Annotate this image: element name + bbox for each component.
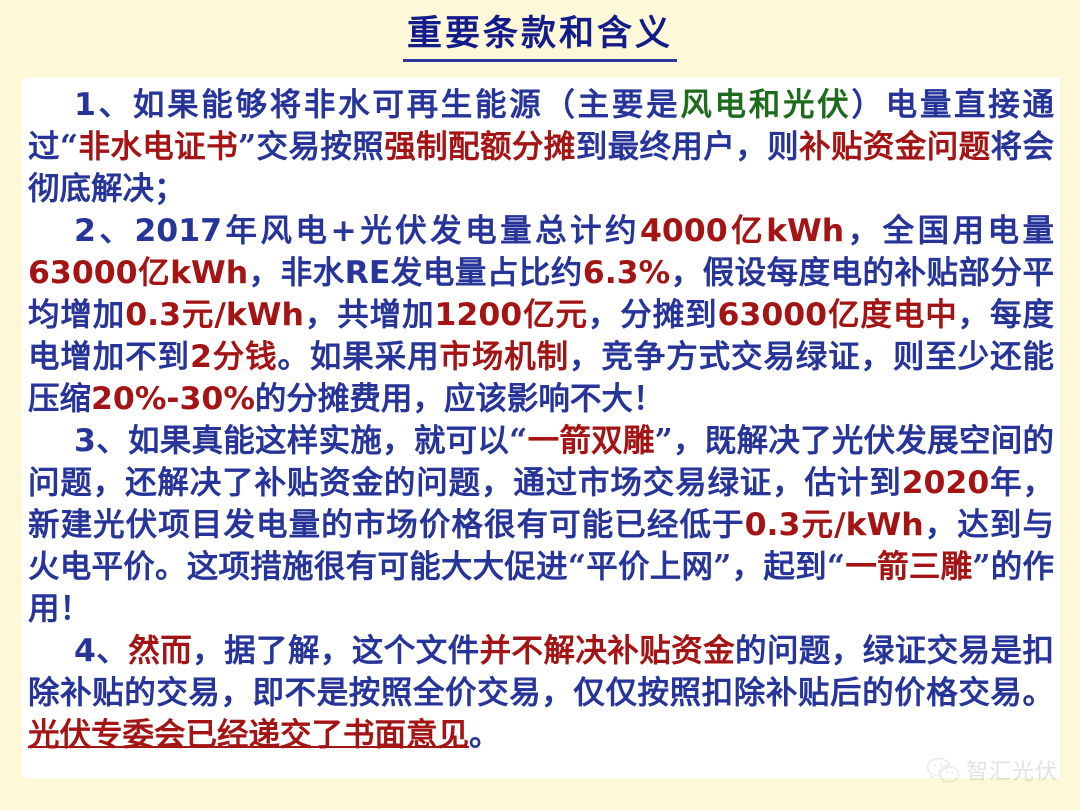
text-run: 2017 bbox=[134, 213, 222, 249]
text-run: 亿 bbox=[138, 254, 170, 291]
paragraph-2: 2、2017年风电+光伏发电量总计约4000亿kWh，全国用电量63000亿kW… bbox=[28, 210, 1054, 420]
text-run: ，据了解，这个文件 bbox=[192, 632, 479, 669]
text-run: 20%-30% bbox=[91, 381, 255, 417]
text-run: 元 bbox=[181, 296, 214, 333]
text-run: 补贴资金问题 bbox=[799, 128, 990, 165]
text-run: 并不解决补贴资金 bbox=[480, 632, 735, 669]
text-run: 然而 bbox=[128, 632, 192, 669]
paragraph-marker: 2、 bbox=[74, 212, 134, 249]
text-run: ，共增加 bbox=[304, 296, 435, 333]
text-run: 如果真能这样实施，就可以“ bbox=[128, 422, 527, 459]
text-run: 。 bbox=[469, 716, 501, 753]
text-run: 63000 bbox=[718, 297, 828, 333]
text-run: + bbox=[330, 213, 356, 249]
text-run: 年风电 bbox=[222, 212, 330, 249]
text-run: 4000 bbox=[640, 213, 728, 249]
text-run: 光伏专委会已经递交了书面意见 bbox=[28, 716, 469, 753]
paragraph-marker: 4、 bbox=[74, 632, 128, 669]
text-run: 6.3% bbox=[583, 255, 670, 291]
presentation-slide: 重要条款和含义 1、如果能够将非水可再生能源（主要是风电和光伏）电量直接通过“非… bbox=[0, 0, 1080, 810]
text-run: 到最终用户，则 bbox=[576, 128, 799, 165]
text-run: ，非水 bbox=[248, 254, 344, 291]
text-run: 1200 bbox=[435, 297, 523, 333]
text-run: 2020 bbox=[902, 465, 990, 501]
text-run: 发电量占比约 bbox=[390, 254, 582, 291]
text-run: ”交易按照 bbox=[238, 128, 384, 165]
text-run: ，分摊到 bbox=[588, 296, 718, 333]
text-run: 分钱 bbox=[212, 338, 278, 375]
text-run: 的分摊费用，应该影响不大！ bbox=[255, 380, 665, 417]
text-run: 非水电证书 bbox=[78, 128, 238, 165]
text-run: kWh bbox=[170, 255, 248, 291]
text-run: 元 bbox=[800, 506, 834, 543]
text-run: 年 bbox=[989, 464, 1022, 501]
slide-body-panel: 1、如果能够将非水可再生能源（主要是风电和光伏）电量直接通过“非水电证书”交易按… bbox=[22, 78, 1060, 778]
text-run: ，全国用电量 bbox=[844, 212, 1054, 249]
text-run: RE bbox=[345, 255, 391, 291]
title-area: 重要条款和含义 bbox=[0, 12, 1080, 62]
text-run: /kWh bbox=[834, 507, 924, 543]
text-run: 2 bbox=[190, 339, 212, 375]
text-run: 一箭双雕 bbox=[527, 422, 654, 459]
text-run: /kWh bbox=[214, 297, 304, 333]
text-run: 强制配额分摊 bbox=[384, 128, 575, 165]
text-run: 风电和光伏 bbox=[680, 86, 851, 123]
text-run: 一箭三雕 bbox=[845, 548, 972, 585]
text-run: 0.3 bbox=[745, 507, 801, 543]
text-run: 亿元 bbox=[522, 296, 588, 333]
paragraph-marker: 1、 bbox=[74, 86, 133, 123]
text-run: 0.3 bbox=[125, 297, 181, 333]
text-run: 。如果采用 bbox=[278, 338, 440, 375]
text-run: 市场机制 bbox=[439, 338, 569, 375]
page-title: 重要条款和含义 bbox=[403, 12, 677, 62]
paragraph-4: 4、然而，据了解，这个文件并不解决补贴资金的问题，绿证交易是扣除补贴的交易，即不… bbox=[28, 630, 1054, 756]
paragraph-1: 1、如果能够将非水可再生能源（主要是风电和光伏）电量直接通过“非水电证书”交易按… bbox=[28, 84, 1054, 210]
text-run: 光伏发电量总计约 bbox=[357, 212, 640, 249]
text-run: kWh bbox=[766, 213, 844, 249]
text-run: 亿 bbox=[728, 212, 766, 249]
text-run: 63000 bbox=[28, 255, 138, 291]
text-run: 亿度电中 bbox=[827, 296, 958, 333]
paragraph-marker: 3、 bbox=[74, 422, 128, 459]
paragraph-3: 3、如果真能这样实施，就可以“一箭双雕”，既解决了光伏发展空间的问题，还解决了补… bbox=[28, 420, 1054, 630]
text-run: 如果能够将非水可再生能源（主要是 bbox=[133, 86, 680, 123]
